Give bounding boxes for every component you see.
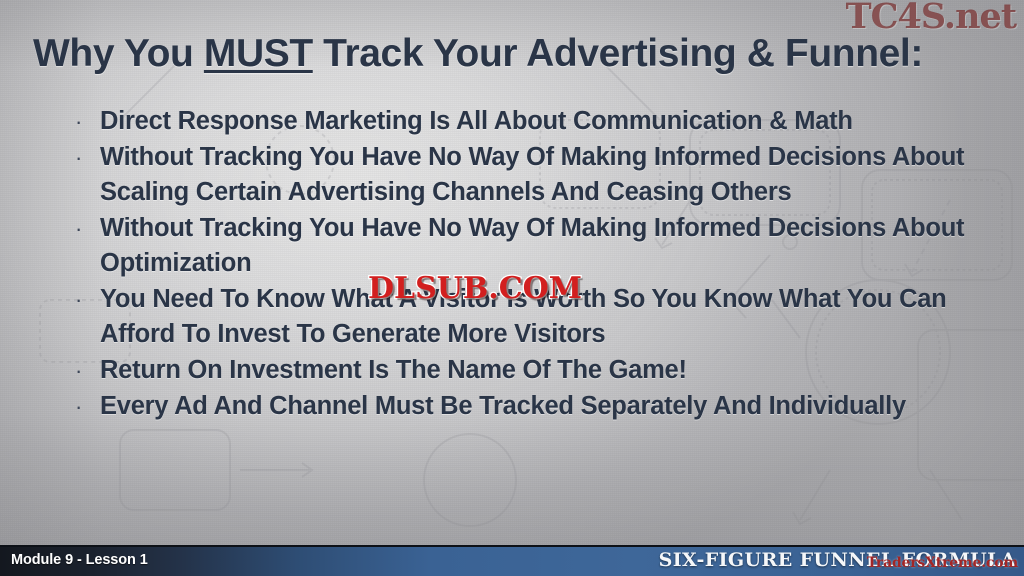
list-item-text: Direct Response Marketing Is All About C…	[100, 104, 992, 139]
bullet-list: · Direct Response Marketing Is All About…	[62, 104, 992, 425]
list-item: · Every Ad And Channel Must Be Tracked S…	[62, 389, 992, 424]
list-item: · Return On Investment Is The Name Of Th…	[62, 353, 992, 388]
bullet-marker-icon: ·	[62, 389, 100, 424]
watermark-tradersxtreme: TradersXtreme.com	[867, 555, 1018, 571]
list-item-text: Return On Investment Is The Name Of The …	[100, 353, 992, 388]
lesson-label: Module 9 - Lesson 1	[11, 552, 148, 568]
title-emphasis: MUST	[204, 32, 313, 75]
list-item: · Without Tracking You Have No Way Of Ma…	[62, 140, 992, 210]
bullet-marker-icon: ·	[62, 104, 100, 139]
list-item: · Direct Response Marketing Is All About…	[62, 104, 992, 139]
bullet-marker-icon: ·	[62, 353, 100, 388]
list-item-text: Without Tracking You Have No Way Of Maki…	[100, 140, 992, 210]
title-prefix: Why You	[33, 32, 204, 75]
page-title: Why You MUST Track Your Advertising & Fu…	[33, 34, 993, 75]
title-suffix: Track Your Advertising & Funnel:	[313, 32, 923, 75]
watermark-tc4s: TC4S.net	[846, 0, 1016, 37]
bullet-marker-icon: ·	[62, 282, 100, 317]
bullet-marker-icon: ·	[62, 211, 100, 246]
list-item-text: Every Ad And Channel Must Be Tracked Sep…	[100, 389, 992, 424]
footer-bar: Module 9 - Lesson 1 SIX-FIGURE FUNNEL FO…	[0, 545, 1024, 576]
bullet-marker-icon: ·	[62, 140, 100, 175]
slide-canvas: Why You MUST Track Your Advertising & Fu…	[0, 0, 1024, 576]
watermark-dlsub: DLSUB.COM	[368, 271, 582, 306]
